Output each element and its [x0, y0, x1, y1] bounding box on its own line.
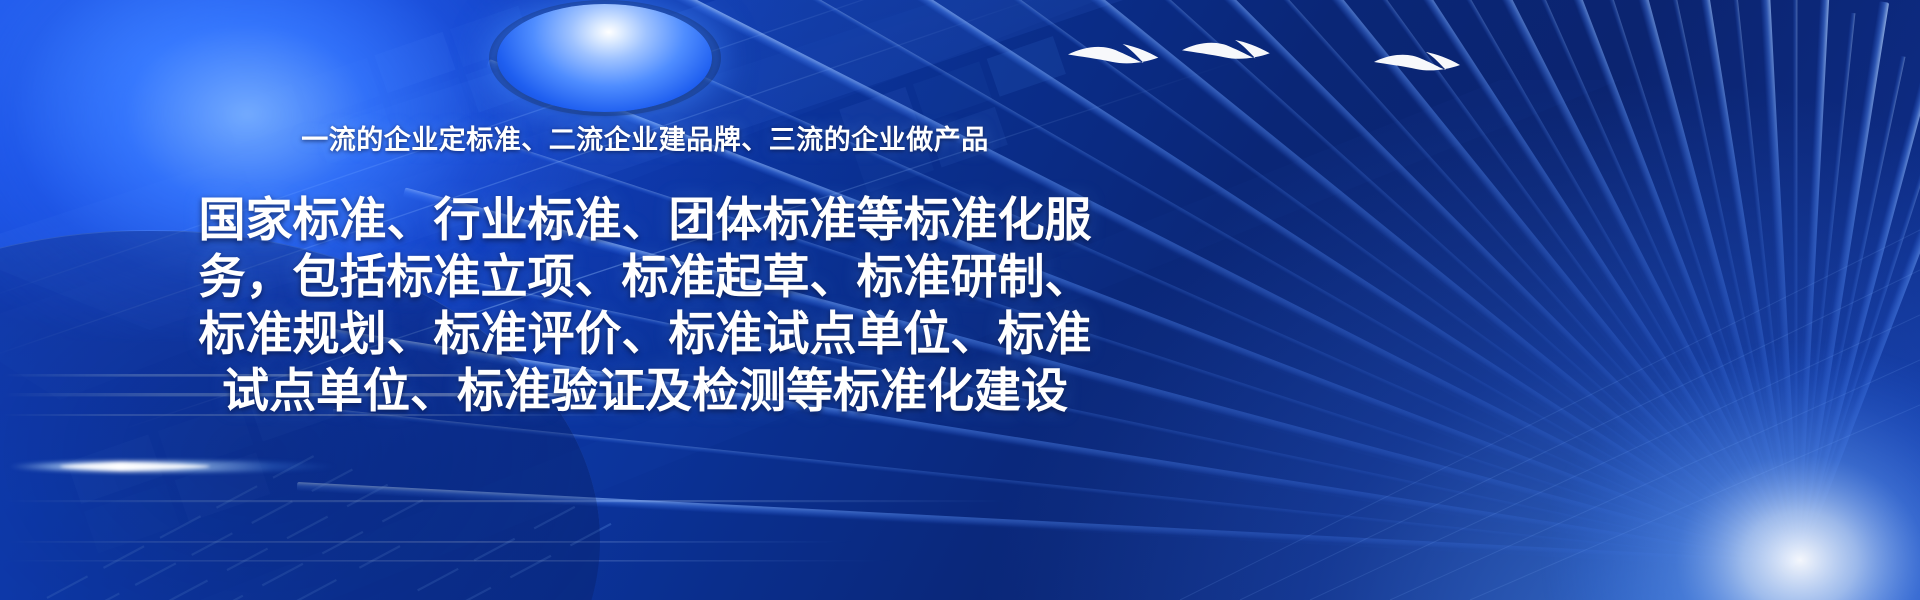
banner-headline: 一流的企业定标准、二流企业建品牌、三流的企业做产品 — [301, 118, 989, 157]
banner-body-line-3: 标准规划、标准评价、标准试点单位、标准 — [199, 305, 1092, 362]
banner-text-content: 一流的企业定标准、二流企业建品牌、三流的企业做产品 国家标准、行业标准、团体标准… — [0, 0, 1290, 600]
banner-body-line-2: 务，包括标准立项、标准起草、标准研制、 — [199, 248, 1092, 305]
banner-body-line-1: 国家标准、行业标准、团体标准等标准化服 — [199, 191, 1092, 248]
banner-body-line-4: 试点单位、标准验证及检测等标准化建设 — [222, 362, 1068, 419]
promotional-banner: 一流的企业定标准、二流企业建品牌、三流的企业做产品 国家标准、行业标准、团体标准… — [0, 0, 1920, 600]
banner-body-paragraph: 国家标准、行业标准、团体标准等标准化服 务，包括标准立项、标准起草、标准研制、 … — [199, 191, 1092, 419]
